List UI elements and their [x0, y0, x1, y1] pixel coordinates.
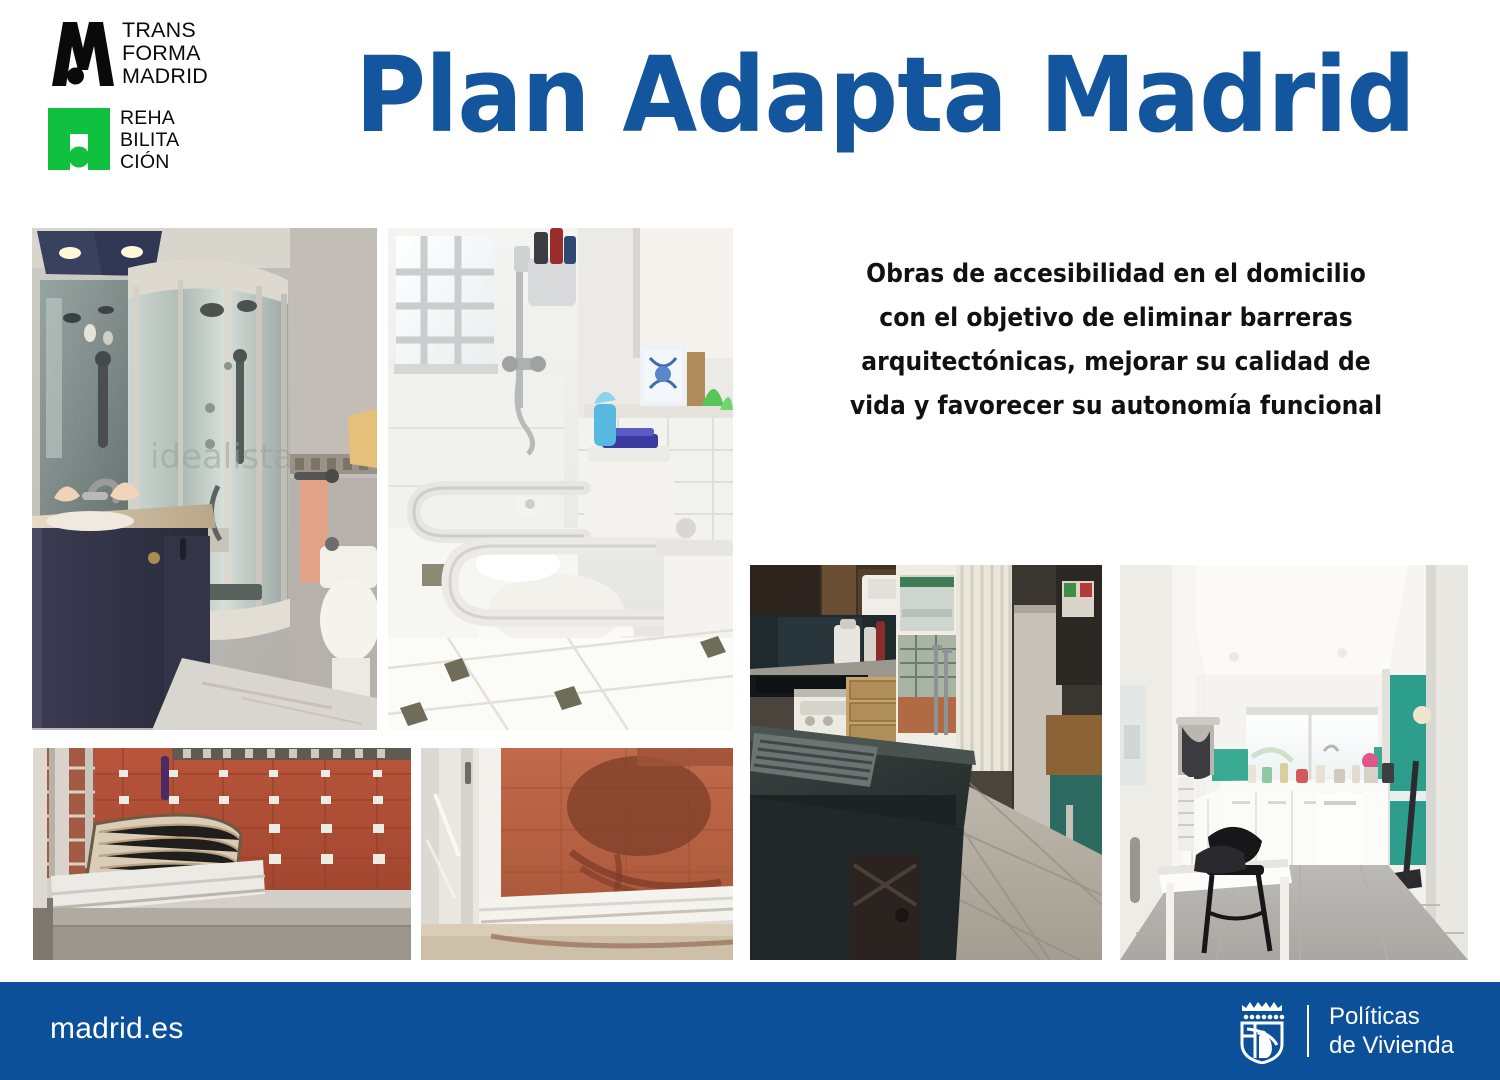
- rehabilitacion-wordmark: REHA BILITA CIÓN: [120, 107, 179, 173]
- rehabilitacion-line-1: REHA: [120, 107, 179, 129]
- svg-text:idealista: idealista: [150, 437, 294, 477]
- photo-kitchen-after: [1120, 565, 1468, 960]
- footer-brand-line-1: Políticas: [1329, 1002, 1454, 1031]
- rehabilitacion-line-3: CIÓN: [120, 151, 179, 173]
- madrid-coat-of-arms-icon: [1235, 998, 1289, 1064]
- page-title: Plan Adapta Madrid: [341, 36, 1429, 154]
- footer-brand-wordmark: Políticas de Vivienda: [1329, 1002, 1454, 1060]
- rehabilitacion-line-2: BILITA: [120, 129, 179, 151]
- footer-site-link[interactable]: madrid.es: [50, 1012, 184, 1046]
- transforma-madrid-wordmark: TRANS FORMA MADRID: [122, 19, 208, 88]
- description-line: arquitectónicas, mejorar su calidad de: [796, 340, 1436, 384]
- transforma-madrid-logo: TRANS FORMA MADRID: [50, 18, 208, 88]
- description-line: con el objetivo de eliminar barreras: [796, 296, 1436, 340]
- description-line: Obras de accesibilidad en el domicilio: [796, 252, 1436, 296]
- photo-threshold-before: [33, 748, 411, 960]
- description-line: vida y favorecer su autonomía funcional: [796, 384, 1436, 428]
- transforma-line-2: FORMA: [122, 42, 208, 65]
- rehabilitacion-square-mark-icon: [48, 108, 110, 170]
- rehabilitacion-logo: REHA BILITA CIÓN: [48, 108, 179, 173]
- transforma-line-3: MADRID: [122, 65, 208, 88]
- photo-kitchen-before: [750, 565, 1102, 960]
- transforma-line-1: TRANS: [122, 19, 208, 42]
- transforma-madrid-m-mark-icon: [50, 18, 116, 88]
- footer-brand: Políticas de Vivienda: [1235, 994, 1454, 1068]
- photo-bathroom-before: idealista: [32, 228, 377, 730]
- footer-brand-line-2: de Vivienda: [1329, 1031, 1454, 1060]
- description-text: Obras de accesibilidad en el domicilio c…: [796, 252, 1436, 428]
- photo-threshold-after: [421, 748, 733, 960]
- footer-divider: [1307, 1005, 1309, 1057]
- photo-bathroom-after: [388, 228, 733, 730]
- header-logos: TRANS FORMA MADRID REHA BILITA CIÓN: [38, 18, 268, 208]
